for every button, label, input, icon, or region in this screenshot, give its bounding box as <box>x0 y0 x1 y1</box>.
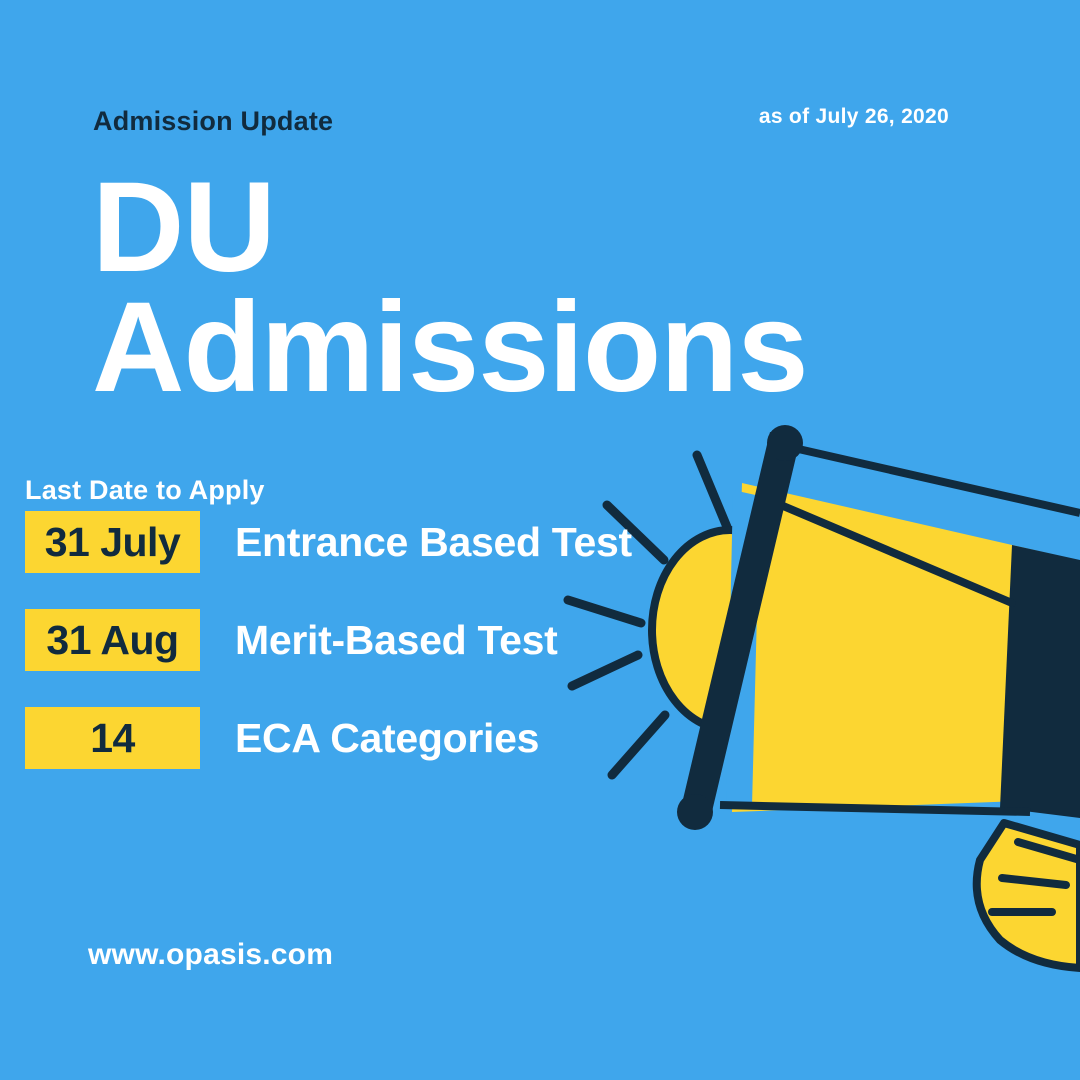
page-title: DU Admissions <box>92 168 808 409</box>
cone-inner-rim-line <box>762 497 1012 603</box>
website-url[interactable]: www.opasis.com <box>88 938 333 972</box>
info-row-label: Entrance Based Test <box>235 519 632 566</box>
count-badge: 14 <box>25 707 200 769</box>
neck-bar-top-cap <box>767 425 803 461</box>
megaphone-neck-bar <box>680 432 800 820</box>
cone-top-rim-line <box>772 443 1080 513</box>
info-row: 31 July Entrance Based Test <box>25 511 632 573</box>
info-row-label: Merit-Based Test <box>235 617 558 664</box>
last-date-label: Last Date to Apply <box>25 475 265 506</box>
date-badge: 31 Aug <box>25 609 200 671</box>
poster-canvas: Admission Update as of July 26, 2020 DU … <box>0 0 1080 1080</box>
cone-bottom-rim-line <box>720 805 1030 812</box>
neck-bar-bottom-cap <box>677 794 713 830</box>
cone-highlight-strip <box>726 490 760 808</box>
info-row: 14 ECA Categories <box>25 707 632 769</box>
info-row: 31 Aug Merit-Based Test <box>25 609 632 671</box>
kicker-label: Admission Update <box>93 106 333 137</box>
megaphone-cone <box>732 483 1047 812</box>
handle-grip-lines <box>992 842 1080 912</box>
info-rows: 31 July Entrance Based Test 31 Aug Merit… <box>25 511 632 805</box>
megaphone-handle <box>977 823 1080 968</box>
horn-opening <box>652 530 808 730</box>
page-title-line-2: Admissions <box>92 288 808 408</box>
date-badge: 31 July <box>25 511 200 573</box>
info-row-label: ECA Categories <box>235 715 539 762</box>
megaphone-cone-shadow <box>1000 545 1080 818</box>
as-of-date: as of July 26, 2020 <box>759 105 949 129</box>
